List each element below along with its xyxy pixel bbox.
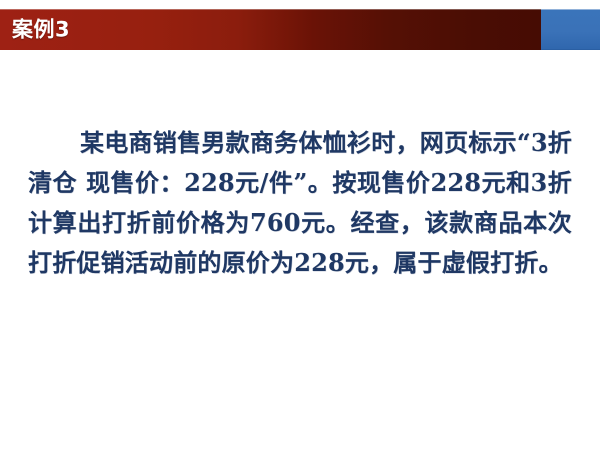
header-banner: 案例3 <box>0 9 600 50</box>
header-blue-accent <box>541 9 600 50</box>
page-title: 案例3 <box>12 19 70 40</box>
body-content: 某电商销售男款商务体恤衫时，网页标示“3折清仓 现售价：228元/件”。按现售价… <box>28 123 572 283</box>
slide-canvas: 案例3 某电商销售男款商务体恤衫时，网页标示“3折清仓 现售价：228元/件”。… <box>0 0 600 450</box>
header-red-bar <box>0 9 541 50</box>
case-paragraph: 某电商销售男款商务体恤衫时，网页标示“3折清仓 现售价：228元/件”。按现售价… <box>28 123 572 283</box>
